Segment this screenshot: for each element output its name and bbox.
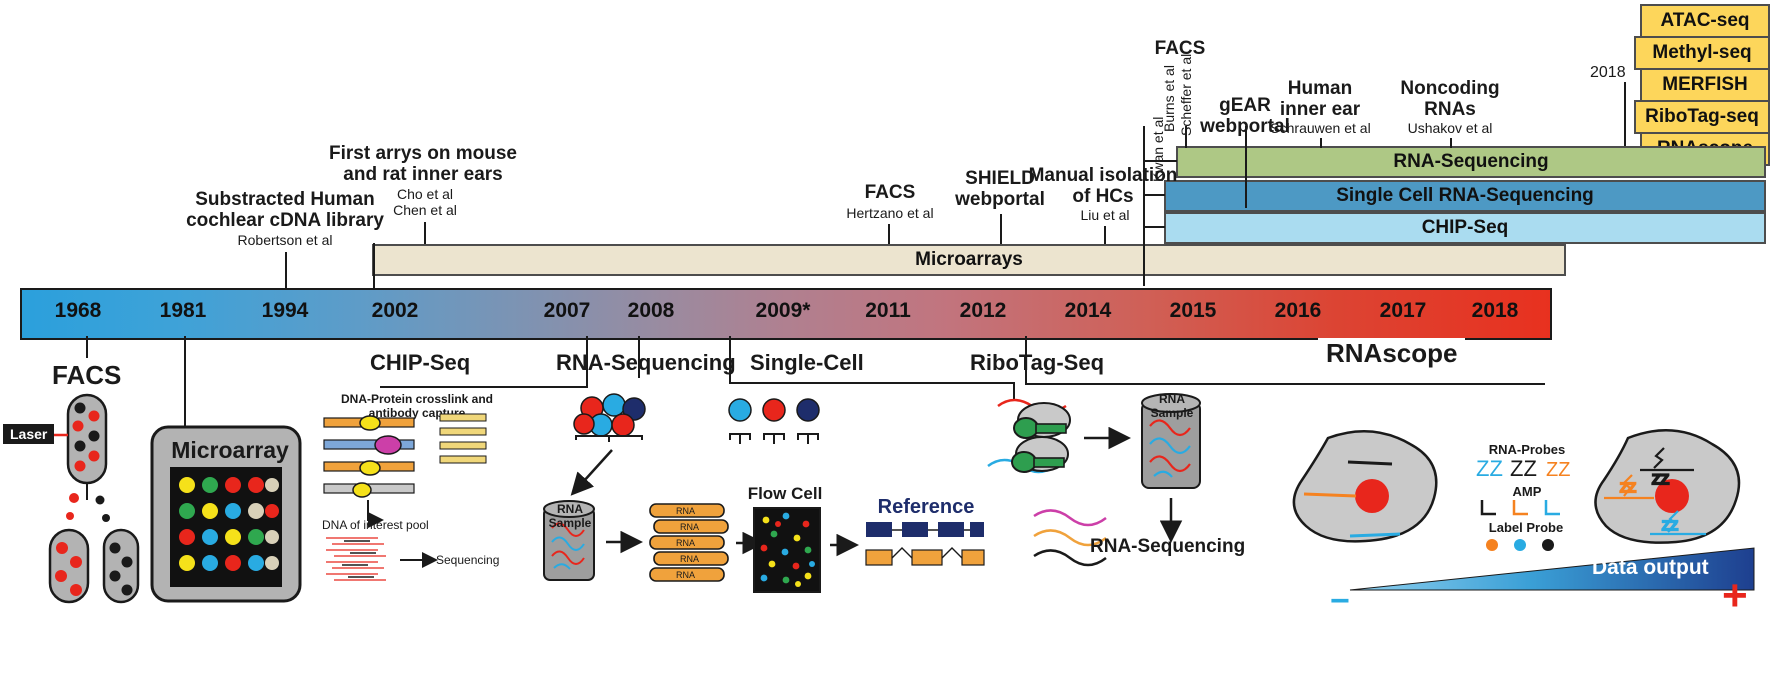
tech-bar-single-cell-rna-sequencing[interactable]: Single Cell RNA-Sequencing — [1164, 180, 1766, 212]
event-connector-2014 — [1104, 226, 1106, 244]
year-label-2017: 2017 — [1358, 299, 1448, 323]
method-bracket-chipseq — [380, 386, 588, 388]
svg-text:RNA: RNA — [676, 506, 695, 516]
method-label-facs: FACS — [52, 360, 121, 391]
gear-connector — [1245, 146, 1247, 208]
reference-label: Reference — [866, 496, 986, 519]
method-bracket-ribotag — [1025, 383, 1545, 385]
event-title-facs-2015: FACS — [1125, 38, 1235, 59]
yellow-box-ribotag-seq[interactable]: RiboTag-seq — [1634, 100, 1770, 134]
svg-text:ZZ: ZZ — [1476, 456, 1503, 481]
method-connector-microarray — [184, 336, 186, 426]
method-label-rnascope: RNAscope — [1318, 338, 1465, 369]
event-sub-liu-et-al: Liu et al — [1050, 207, 1160, 223]
singlecell-diagram — [726, 398, 836, 464]
chipseq-pool-diagram — [322, 534, 522, 604]
year-label-2016: 2016 — [1253, 299, 1343, 323]
year-label-2018: 2018 — [1450, 299, 1540, 323]
flowcell-diagram — [752, 506, 824, 594]
year-label-2007: 2007 — [522, 299, 612, 323]
rnaseq-arrow-to-reference — [828, 534, 864, 558]
event-connector-2012 — [1000, 214, 1002, 244]
method-label-chip-seq: CHIP-Seq — [370, 350, 470, 376]
facs-diagram — [30, 390, 160, 610]
data-output-legend-title: Data output — [1592, 556, 1709, 580]
svg-text:ZZ: ZZ — [1620, 480, 1636, 495]
yellow-box-label: RiboTag-seq — [1645, 106, 1759, 128]
rnaseq-cells-diagram — [570, 392, 690, 452]
event-connector-1994 — [285, 252, 287, 288]
method-connector-facs — [86, 336, 88, 358]
event-title-first-arrays: First arrys on mouseand rat inner ears — [288, 143, 558, 186]
year-label-1994: 1994 — [240, 299, 330, 323]
event-sub-cho-chen-et-al: Cho et alChen et al — [340, 186, 510, 218]
event-connector-2017 — [1450, 138, 1452, 148]
rnascope-cell-left — [1290, 424, 1490, 564]
year-label-1981: 1981 — [138, 299, 228, 323]
year-label-1968: 1968 — [33, 299, 123, 323]
tech-bar-chip-seq[interactable]: CHIP-Seq — [1164, 212, 1766, 244]
rnascope-label-probe-label: Label Probe — [1466, 520, 1586, 535]
year-label-2002: 2002 — [350, 299, 440, 323]
yellow-box-label: ATAC-seq — [1660, 10, 1749, 32]
rnascope-cell-right: ZZ ZZ ZZ — [1596, 422, 1772, 564]
chipseq-sequencing-label: Sequencing — [436, 553, 526, 567]
rnascope-amp-label: AMP — [1472, 484, 1582, 499]
microarrays-bracket-left — [373, 243, 375, 289]
tech-bar-label: CHIP-Seq — [1422, 217, 1509, 239]
svg-text:RNA: RNA — [680, 554, 699, 564]
tech-bar-microarrays[interactable]: Microarrays — [372, 244, 1566, 276]
rnascope-probes-glyphs: ZZ ZZ ZZ — [1472, 456, 1582, 484]
yellow-box-label: MERFISH — [1662, 74, 1748, 96]
ribotag-output-label: RNA-Sequencing — [1090, 536, 1245, 558]
event-sub-ushakov-et-al: Ushakov et al — [1380, 120, 1520, 136]
year-label-2008: 2008 — [606, 299, 696, 323]
tech-bar-rna-sequencing[interactable]: RNA-Sequencing — [1176, 146, 1766, 178]
event-sub-schrauwen-et-al: Schrauwen et al — [1248, 120, 1393, 136]
facs-laser-label: Laser — [3, 424, 54, 444]
year-label-2011: 2011 — [843, 299, 933, 323]
event-connector-2011 — [888, 224, 890, 244]
method-label-rna-sequencing: RNA-Sequencing — [556, 350, 736, 376]
yellow-box-atac-seq[interactable]: ATAC-seq — [1640, 4, 1770, 38]
svg-text:ZZ: ZZ — [1652, 471, 1670, 487]
rnaseq-sample-label: RNA Sample — [540, 502, 600, 530]
event-connector-2002 — [424, 222, 426, 244]
svg-text:ZZ: ZZ — [1510, 456, 1537, 481]
year-label-2012: 2012 — [938, 299, 1028, 323]
microarray-diagram-label: Microarray — [170, 437, 290, 464]
method-label-single-cell: Single-Cell — [750, 350, 864, 376]
event-title-noncoding-rnas: NoncodingRNAs — [1380, 78, 1520, 121]
data-output-max-symbol: + — [1722, 574, 1748, 618]
event-title-facs-2011: FACS — [835, 182, 945, 203]
year-label-2014: 2014 — [1043, 299, 1133, 323]
year-label-2015: 2015 — [1148, 299, 1238, 323]
yellow-box-label: Methyl-seq — [1652, 42, 1751, 64]
flowcell-label: Flow Cell — [740, 484, 830, 504]
chipseq-bottom-caption: DNA of interest pool — [322, 518, 482, 532]
rnascope-probes-label: RNA-Probes — [1472, 442, 1582, 457]
rotated-label-burns-et-al: Burns et al — [1161, 65, 1177, 132]
rnaseq-arrow-to-reads — [604, 530, 648, 556]
method-bracket-singlecell-left — [729, 336, 731, 384]
tech-bar-label: Microarrays — [915, 249, 1023, 271]
yellow-box-year-connector — [1624, 82, 1626, 146]
event-title-manual-isolation-hcs: Manual isolationof HCs — [1008, 165, 1198, 208]
tech-bar-label: Single Cell RNA-Sequencing — [1336, 185, 1594, 207]
svg-text:RNA: RNA — [676, 538, 695, 548]
event-connector-2016 — [1320, 138, 1322, 148]
svg-text:ZZ: ZZ — [1546, 459, 1570, 481]
yellow-box-year-label: 2018 — [1590, 64, 1626, 82]
event-sub-robertson-et-al: Robertson et al — [200, 232, 370, 248]
svg-text:ZZ: ZZ — [1662, 518, 1678, 533]
tech-bar-label: RNA-Sequencing — [1393, 151, 1548, 173]
yellow-box-methyl-seq[interactable]: Methyl-seq — [1634, 36, 1770, 70]
method-bracket-singlecell — [729, 382, 1015, 384]
event-title-human-inner-ear: Humaninner ear — [1250, 78, 1390, 121]
tech-bar-bracket-chip-seq — [1143, 226, 1165, 228]
reference-track-diagram — [866, 520, 986, 580]
yellow-box-merfish[interactable]: MERFISH — [1640, 68, 1770, 102]
svg-text:RNA: RNA — [680, 522, 699, 532]
svg-text:RNA: RNA — [676, 570, 695, 580]
method-label-ribotag-seq: RiboTag-Seq — [970, 350, 1104, 376]
data-output-min-symbol: − — [1330, 584, 1350, 618]
ribotag-sample-label: RNA Sample — [1140, 392, 1204, 420]
rnaseq-reads-diagram: RNA RNA RNA RNA RNA — [648, 500, 738, 590]
year-label-2009: 2009* — [738, 299, 828, 323]
